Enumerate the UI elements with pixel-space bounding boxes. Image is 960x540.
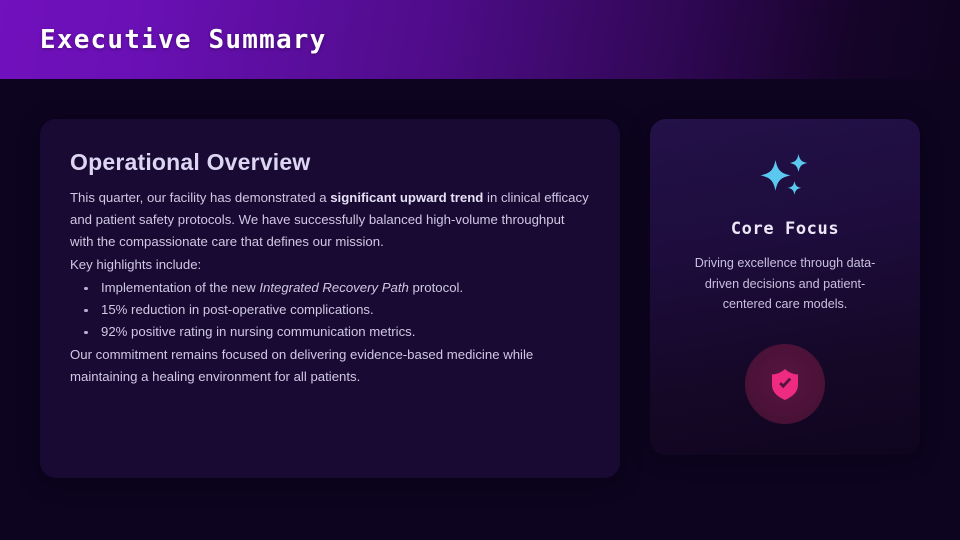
intro-paragraph: This quarter, our facility has demonstra… [70, 187, 590, 253]
bullet-text-part-2: protocol. [409, 280, 463, 295]
bullet-text-part-1: 92% positive rating in nursing communica… [101, 324, 415, 339]
intro-emphasis: significant upward trend [330, 190, 483, 205]
highlights-list: Implementation of the new Integrated Rec… [70, 277, 590, 343]
bullet-text-part-1: 15% reduction in post-operative complica… [101, 302, 374, 317]
card-heading: Operational Overview [70, 149, 590, 176]
list-item: 92% positive rating in nursing communica… [70, 321, 590, 343]
closing-paragraph: Our commitment remains focused on delive… [70, 344, 590, 388]
list-item: 15% reduction in post-operative complica… [70, 299, 590, 321]
slide-header: Executive Summary [0, 0, 960, 79]
status-badge [745, 344, 825, 424]
sparkles-icon [756, 152, 814, 202]
intro-text-part-1: This quarter, our facility has demonstra… [70, 190, 330, 205]
shield-check-icon [766, 365, 804, 403]
core-focus-card: Core Focus Driving excellence through da… [650, 119, 920, 455]
highlights-lead-in: Key highlights include: [70, 254, 590, 276]
slide-root: Executive Summary Operational Overview T… [0, 0, 960, 540]
bullet-text-part-1: Implementation of the new [101, 280, 259, 295]
list-item: Implementation of the new Integrated Rec… [70, 277, 590, 299]
bullet-emphasis: Integrated Recovery Path [259, 280, 409, 295]
focus-card-description: Driving excellence through data-driven d… [682, 253, 888, 315]
page-title: Executive Summary [40, 25, 327, 55]
focus-card-heading: Core Focus [731, 219, 839, 239]
operational-overview-card: Operational Overview This quarter, our f… [40, 119, 620, 478]
